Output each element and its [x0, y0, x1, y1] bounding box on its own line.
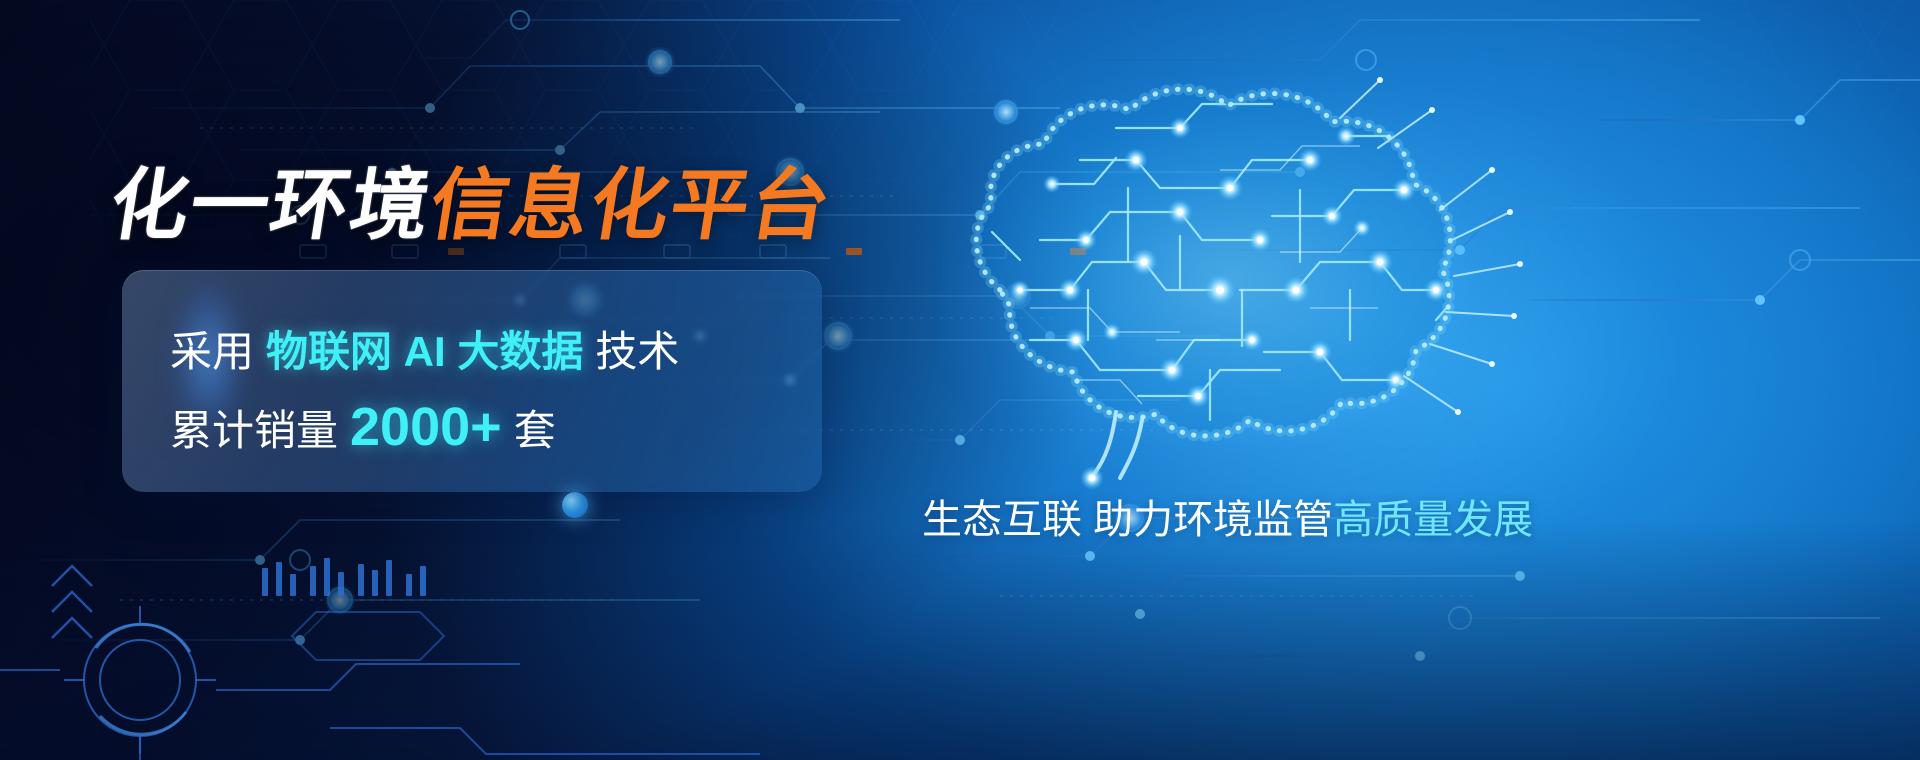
feature-line2-number: 2000+ [350, 397, 502, 457]
tagline-plain: 生态互联 助力环境监管 [922, 498, 1333, 542]
feature-line2-suffix: 套 [514, 407, 556, 454]
headline-segment-accent: 信息化平台 [423, 143, 841, 255]
page-title: 化一环境信息化平台 [103, 143, 841, 255]
tagline-highlight: 高质量发展 [1333, 498, 1533, 542]
hud-ornament-pattern [0, 540, 760, 760]
marketing-banner: 化一环境信息化平台 采用物联网 AI 大数据技术 累计销量2000+套 生态互联… [0, 0, 1920, 760]
feature-line1-prefix: 采用 [170, 328, 254, 375]
feature-line1-highlight: 物联网 AI 大数据 [266, 328, 583, 375]
feature-line2-prefix: 累计销量 [170, 407, 338, 454]
feature-line1-suffix: 技术 [595, 328, 679, 375]
ai-brain-circuit-illustration [880, 40, 1580, 510]
bottom-shade [0, 520, 1920, 760]
headline-segment-brand: 化一环境 [103, 143, 441, 255]
feature-line-technologies: 采用物联网 AI 大数据技术 [170, 318, 679, 379]
tagline: 生态互联 助力环境监管高质量发展 [922, 487, 1533, 545]
feature-line-sales: 累计销量2000+套 [170, 396, 556, 458]
feature-card: 采用物联网 AI 大数据技术 累计销量2000+套 [122, 270, 822, 492]
accent-dot [562, 492, 588, 518]
